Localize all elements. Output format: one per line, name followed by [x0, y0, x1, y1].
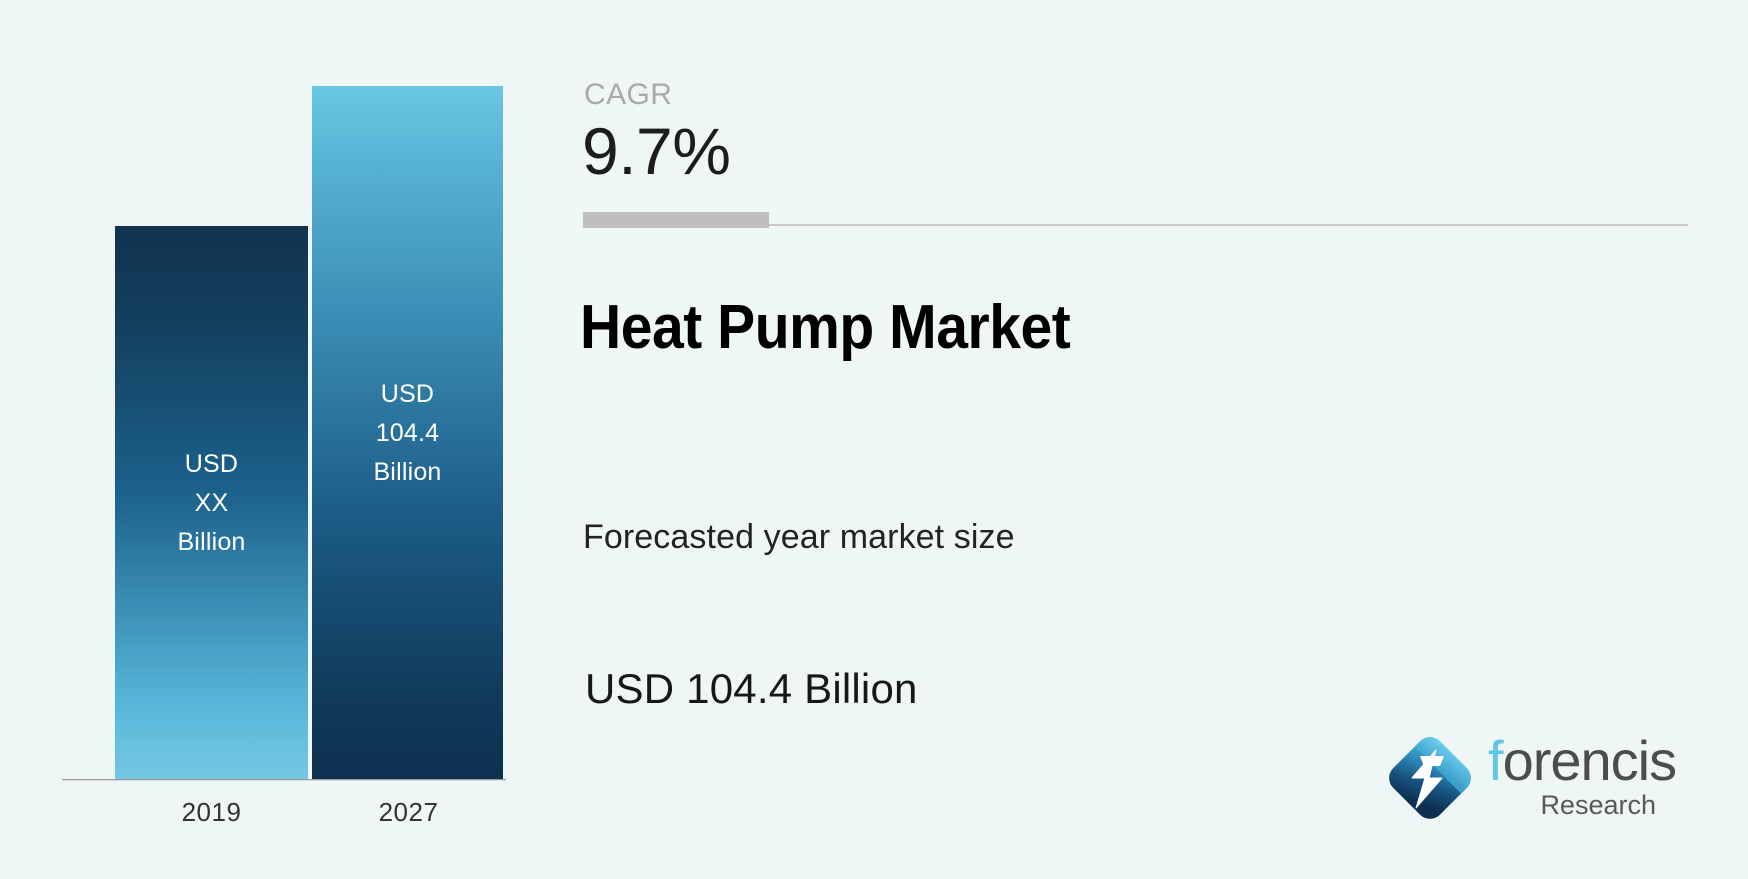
logo-subtitle: Research: [1540, 790, 1656, 821]
cagr-progress-fill: [583, 212, 769, 228]
logo-brand-f: f: [1488, 729, 1503, 792]
page-title: Heat Pump Market: [580, 292, 1070, 363]
bar-2019-label: USD XX Billion: [177, 445, 245, 562]
axis-tick-2019: 2019: [115, 797, 308, 828]
logo-brand-rest: orencis: [1503, 729, 1677, 792]
axis-tick-2027: 2027: [312, 797, 505, 828]
forencis-wordmark: forencis Research: [1488, 730, 1658, 826]
forecast-value: USD 104.4 Billion: [585, 665, 918, 713]
forecast-caption: Forecasted year market size: [583, 518, 1015, 557]
bar-2027: USD 104.4 Billion: [312, 86, 503, 780]
logo-brand-text: forencis: [1488, 730, 1676, 792]
bar-2027-label: USD 104.4 Billion: [373, 375, 441, 492]
cagr-label: CAGR: [584, 78, 672, 112]
forencis-diamond-icon: [1378, 726, 1482, 830]
chart-axis-line: [62, 779, 506, 780]
bar-2019: USD XX Billion: [115, 226, 308, 780]
bar-chart: USD XX Billion USD 104.4 Billion 2019 20…: [0, 0, 560, 879]
cagr-value: 9.7%: [582, 113, 730, 189]
forencis-research-logo: forencis Research: [1378, 722, 1658, 834]
